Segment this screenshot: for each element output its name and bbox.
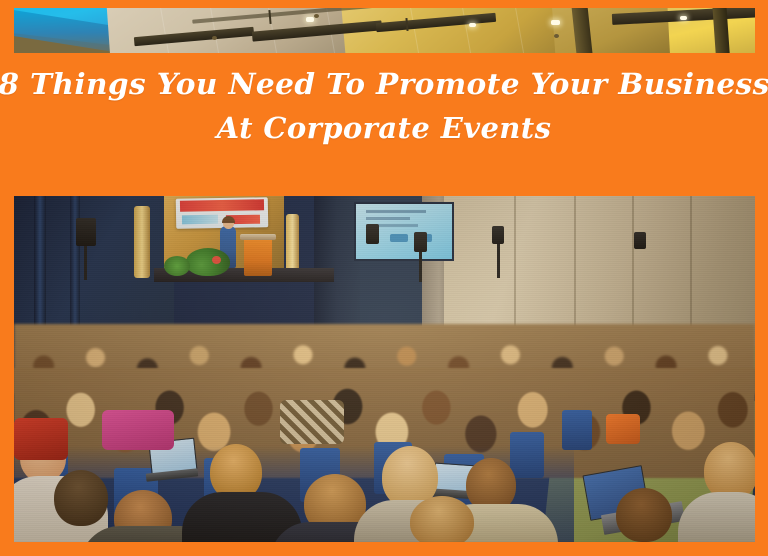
stage-drape [34, 196, 46, 338]
ceiling-light [551, 20, 560, 25]
attendee-floral-dress [280, 400, 344, 444]
ceiling-light [680, 16, 687, 20]
conference-audience-photo [14, 196, 755, 542]
conference-chair [510, 432, 544, 478]
ceiling-fixture [314, 14, 319, 18]
blog-header-poster: 8 Things You Need To Promote Your Busine… [0, 0, 768, 556]
pa-speaker [492, 226, 504, 244]
title-line-2: At Corporate Events [0, 106, 768, 150]
podium [244, 238, 272, 276]
title-line-1: 8 Things You Need To Promote Your Busine… [0, 62, 768, 106]
pa-speaker [366, 224, 379, 244]
podium-top [240, 234, 276, 240]
stage-drape [70, 196, 80, 336]
pa-speaker-stand [419, 252, 422, 282]
stage-plant [164, 256, 190, 276]
presenter-hair [222, 216, 235, 223]
attendee-head [54, 470, 108, 526]
ceiling-photo-strip [14, 8, 755, 53]
attendee-head [410, 496, 474, 542]
pa-speaker-stand [497, 244, 500, 278]
pa-speaker [634, 232, 646, 249]
pa-speaker-stand [84, 246, 87, 280]
stage-plant [186, 248, 230, 276]
projection-screen-text-line [366, 217, 410, 220]
event-banner-blue-band [182, 215, 218, 225]
stage-gold-pillar [134, 206, 150, 278]
ceiling-light [306, 17, 314, 22]
projection-screen-text-line [366, 210, 426, 213]
ceiling-fixture [212, 36, 217, 40]
event-banner-red-band [180, 199, 264, 211]
conference-chair [562, 410, 592, 450]
pa-speaker [414, 232, 427, 252]
attendee-red-shirt [14, 418, 68, 460]
stage-flower [212, 256, 221, 264]
attendee-head [616, 488, 672, 542]
attendee-pink-blouse [102, 410, 174, 450]
projection-screen-graphic [390, 234, 408, 242]
ceiling-fixture [554, 34, 559, 38]
stage-gold-pillar [286, 214, 299, 276]
poster-title: 8 Things You Need To Promote Your Busine… [0, 62, 768, 184]
ceiling-light [469, 23, 476, 27]
attendee-orange-bag [606, 414, 640, 444]
pa-speaker [76, 218, 96, 246]
